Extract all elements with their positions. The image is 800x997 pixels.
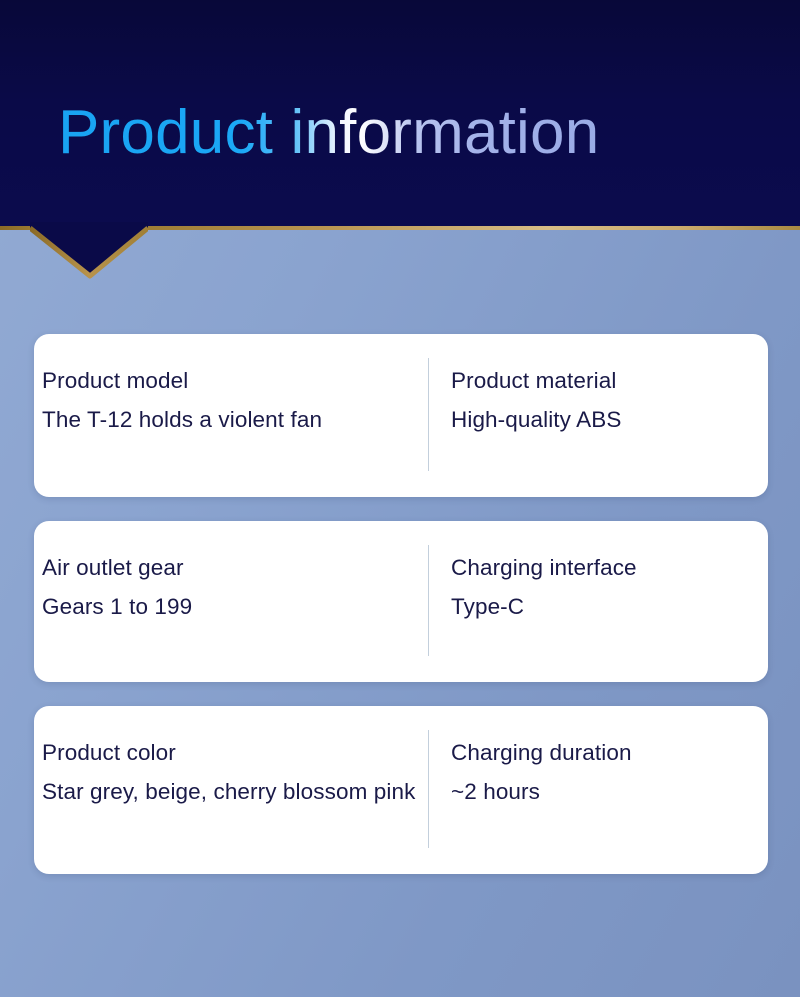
spec-value: Gears 1 to 199 <box>42 588 424 627</box>
spec-label: Charging duration <box>451 734 768 773</box>
spec-card-column-right: Charging interface Type-C <box>428 545 768 656</box>
spec-card-list: Product model The T-12 holds a violent f… <box>34 334 768 874</box>
spec-label: Product color <box>42 734 424 773</box>
header-accent-line-right <box>136 226 800 230</box>
spec-card-column-right: Charging duration ~2 hours <box>428 730 768 848</box>
spec-card: Air outlet gear Gears 1 to 199 Charging … <box>34 521 768 682</box>
spec-card-column-left: Air outlet gear Gears 1 to 199 <box>34 521 428 682</box>
spec-value: Type-C <box>451 588 768 627</box>
header-notch-shape <box>30 222 148 280</box>
spec-label: Product material <box>451 362 768 401</box>
spec-label: Air outlet gear <box>42 549 424 588</box>
spec-card-column-left: Product model The T-12 holds a violent f… <box>34 334 428 497</box>
spec-value: High-quality ABS <box>451 401 768 440</box>
spec-value: The T-12 holds a violent fan <box>42 401 424 440</box>
spec-value: Star grey, beige, cherry blossom pink <box>42 773 424 812</box>
product-information-page: Product information Product model The T-… <box>0 0 800 997</box>
spec-label: Charging interface <box>451 549 768 588</box>
spec-card: Product color Star grey, beige, cherry b… <box>34 706 768 874</box>
spec-card-column-right: Product material High-quality ABS <box>428 358 768 471</box>
spec-label: Product model <box>42 362 424 401</box>
spec-card-column-left: Product color Star grey, beige, cherry b… <box>34 706 428 874</box>
spec-value: ~2 hours <box>451 773 768 812</box>
spec-card: Product model The T-12 holds a violent f… <box>34 334 768 497</box>
page-title: Product information <box>58 98 599 167</box>
